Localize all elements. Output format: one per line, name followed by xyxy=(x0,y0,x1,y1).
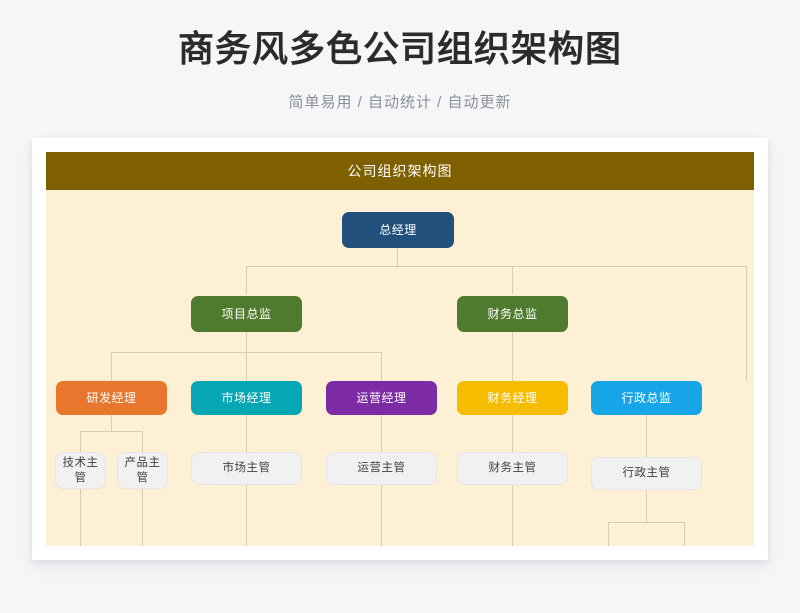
connector-n2bus-to-n4 xyxy=(111,352,112,381)
connector-n14-down xyxy=(646,490,647,522)
org-node-operations-manager[interactable]: 运营经理 xyxy=(326,381,437,415)
connector-level1-bus xyxy=(246,266,746,267)
org-node-label: 财务总监 xyxy=(487,307,537,322)
connector-n2bus-to-n6 xyxy=(381,352,382,381)
connector-bus-to-n8 xyxy=(746,266,747,381)
connector-n12-down xyxy=(381,484,382,546)
org-chart-canvas: 总经理 项目总监 财务总监 研发经理 市场经理 运营经理 财务经理 xyxy=(46,190,754,546)
connector-n5-to-n11 xyxy=(246,411,247,452)
org-node-rd-manager[interactable]: 研发经理 xyxy=(56,381,167,415)
page-title: 商务风多色公司组织架构图 xyxy=(0,26,800,71)
org-node-label: 行政主管 xyxy=(623,466,671,480)
connector-n10-down xyxy=(142,488,143,546)
connector-n11-down xyxy=(246,484,247,546)
connector-n6-to-n12 xyxy=(381,411,382,452)
connector-n4-bus xyxy=(80,431,142,432)
org-node-label: 市场主管 xyxy=(223,461,271,475)
connector-bus-to-n3 xyxy=(512,266,513,294)
org-node-finance-manager[interactable]: 财务经理 xyxy=(457,381,568,415)
connector-n14bus-left xyxy=(608,522,609,546)
org-node-label: 技术主管 xyxy=(60,456,101,485)
org-node-label: 项目总监 xyxy=(221,307,271,322)
org-node-admin-director[interactable]: 行政总监 xyxy=(591,381,702,415)
org-node-label: 产品主管 xyxy=(122,456,163,485)
org-node-tech-supervisor[interactable]: 技术主管 xyxy=(55,452,106,489)
chart-card-wrapper: 公司组织架构图 xyxy=(0,112,800,560)
connector-n14bus-right xyxy=(684,522,685,546)
org-node-label: 财务经理 xyxy=(487,391,537,406)
org-node-label: 市场经理 xyxy=(221,391,271,406)
org-node-label: 财务主管 xyxy=(489,461,537,475)
org-node-finance-supervisor[interactable]: 财务主管 xyxy=(457,452,568,485)
connector-n7-to-n13 xyxy=(512,411,513,452)
connector-n3-to-n7 xyxy=(512,324,513,381)
org-node-product-supervisor[interactable]: 产品主管 xyxy=(117,452,168,489)
org-node-label: 运营经理 xyxy=(356,391,406,406)
connector-n2bus-to-n5 xyxy=(246,352,247,381)
org-node-label: 行政总监 xyxy=(621,391,671,406)
org-node-finance-director[interactable]: 财务总监 xyxy=(457,296,568,332)
org-node-admin-supervisor[interactable]: 行政主管 xyxy=(591,457,702,490)
connector-n4bus-to-n9 xyxy=(80,431,81,452)
org-node-marketing-supervisor[interactable]: 市场主管 xyxy=(191,452,302,485)
org-node-marketing-manager[interactable]: 市场经理 xyxy=(191,381,302,415)
page-header: 商务风多色公司组织架构图 简单易用 / 自动统计 / 自动更新 xyxy=(0,0,800,112)
connector-n13-down xyxy=(512,484,513,546)
org-node-label: 总经理 xyxy=(379,223,417,238)
org-node-label: 运营主管 xyxy=(358,461,406,475)
connector-n8-to-n14 xyxy=(646,411,647,457)
connector-n14-bus xyxy=(608,522,684,523)
connector-bus-to-n2 xyxy=(246,266,247,294)
chart-card: 公司组织架构图 xyxy=(32,138,768,560)
org-node-operations-supervisor[interactable]: 运营主管 xyxy=(326,452,437,485)
chart-header-title: 公司组织架构图 xyxy=(46,152,754,190)
connector-n4bus-to-n10 xyxy=(142,431,143,452)
org-node-label: 研发经理 xyxy=(86,391,136,406)
page-subtitle: 简单易用 / 自动统计 / 自动更新 xyxy=(0,91,800,112)
org-node-project-director[interactable]: 项目总监 xyxy=(191,296,302,332)
connector-n9-down xyxy=(80,488,81,546)
org-node-general-manager[interactable]: 总经理 xyxy=(342,212,454,248)
